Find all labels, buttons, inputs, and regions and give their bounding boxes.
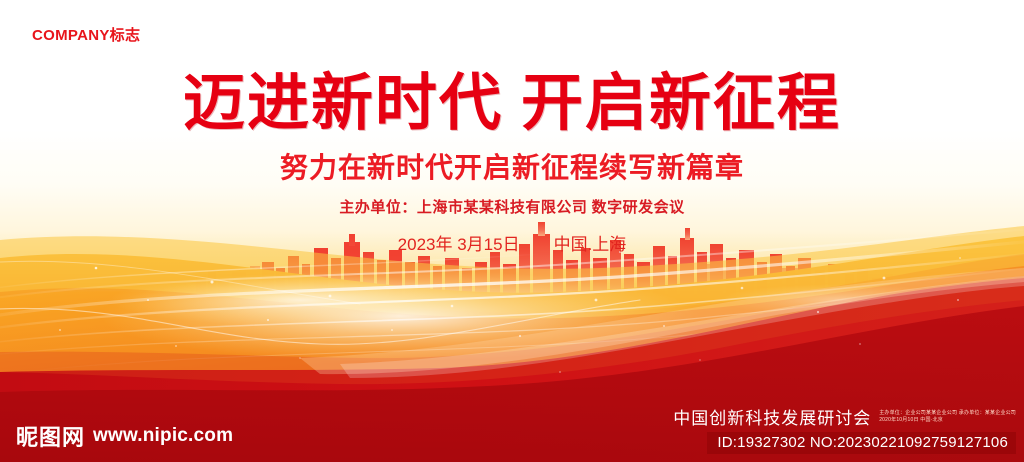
footer-conference-line: 中国创新科技发展研讨会 主办单位：企业公司某某企业公司 承办单位：某某企业公司 … (673, 404, 1016, 429)
footer-right-block: 中国创新科技发展研讨会 主办单位：企业公司某某企业公司 承办单位：某某企业公司 … (673, 404, 1016, 454)
conference-meta-line1: 主办单位：企业公司某某企业公司 承办单位：某某企业公司 (879, 410, 1016, 417)
company-logo-text[interactable]: COMPANY标志 (32, 24, 140, 45)
asset-id-line: ID:19327302 NO:20230221092759127106 (707, 432, 1016, 454)
watermark-site-url: www.nipic.com (93, 425, 233, 447)
conference-meta-line2: 2020年10月10日 中国·北京 (879, 417, 1016, 424)
main-title-part1: 迈进新时代 (183, 70, 503, 138)
hero-text-block: 迈进新时代开启新征程 努力在新时代开启新征程续写新篇章 主办单位：上海市某某科技… (0, 72, 1024, 255)
watermark-site-name-cn: 昵图网 (16, 420, 85, 452)
sub-title: 努力在新时代开启新征程续写新篇章 (0, 146, 1024, 186)
event-location: 中国.上海 (554, 235, 627, 254)
conference-name: 中国创新科技发展研讨会 (673, 404, 871, 429)
event-date: 2023年 3月15日 (398, 235, 520, 254)
main-title: 迈进新时代开启新征程 (0, 72, 1024, 138)
main-title-part2: 开启新征程 (521, 70, 841, 138)
poster-canvas: COMPANY标志 迈进新时代开启新征程 努力在新时代开启新征程续写新篇章 主办… (0, 0, 1024, 462)
site-watermark[interactable]: 昵图网 www.nipic.com (16, 420, 233, 452)
organizer-line: 主办单位：上海市某某科技有限公司 数字研发会议 (0, 196, 1024, 217)
date-location-line: 2023年 3月15日中国.上海 (0, 230, 1024, 255)
conference-meta: 主办单位：企业公司某某企业公司 承办单位：某某企业公司 2020年10月10日 … (879, 410, 1016, 424)
